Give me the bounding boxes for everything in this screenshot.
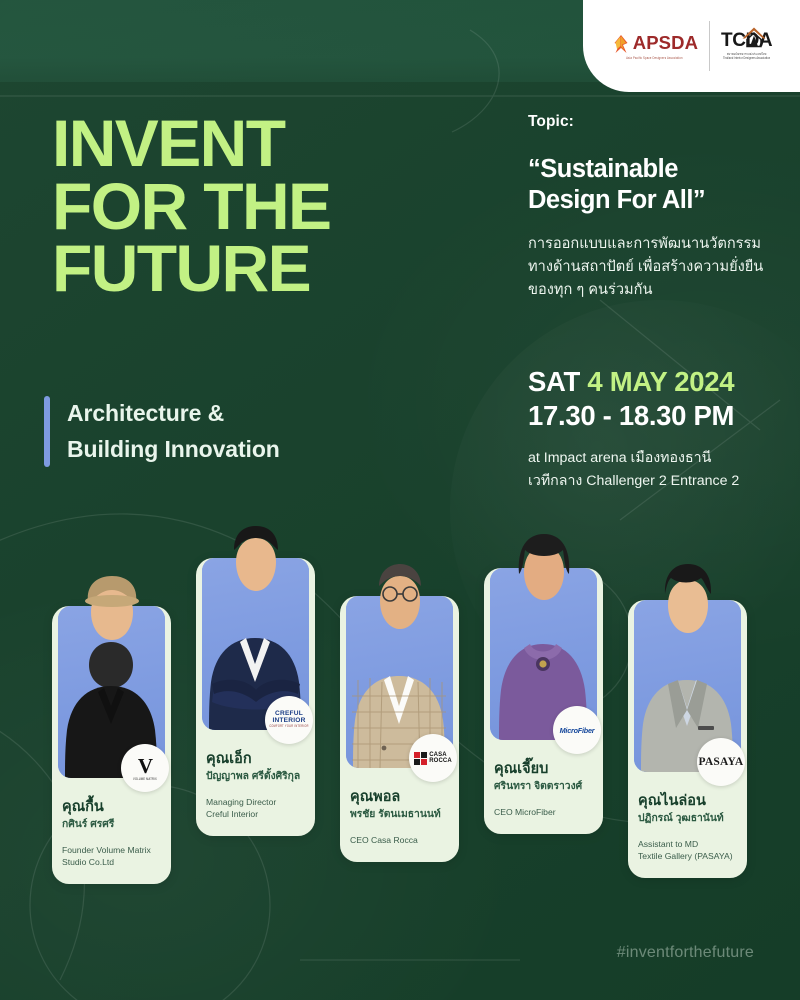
speaker-head-icon [225,518,287,592]
event-day: SAT [528,366,580,397]
casa-rocca-squares-icon [414,752,427,765]
speaker-card[interactable]: V VOLUME MATRIX คุณกื้น กศินร์ ศรศรี Fou… [52,600,171,884]
apsda-butterfly-icon [611,33,631,55]
event-poster: APSDA Asia Pacific Space Designers Assoc… [0,0,800,1000]
speaker-card[interactable]: MicroFiber คุณเจี๊ยบ ศรินทรา จิตตราวงศ์ … [484,562,603,834]
speaker-head-overflow [81,566,143,640]
headline-line-3: FUTURE [52,237,492,300]
company-logo-badge: PASAYA [697,738,745,786]
apsda-tagline: Asia Pacific Space Designers Association [626,56,683,60]
company-logo-badge: MicroFiber [553,706,601,754]
speaker-head-overflow [225,518,287,592]
subtitle-line-2: Building Innovation [67,432,280,468]
topic-block: Topic: “Sustainable Design For All” การอ… [528,113,784,302]
speaker-head-overflow [369,556,431,630]
volume-matrix-sub: VOLUME MATRIX [133,777,157,781]
casa-rocca-mark: CASA ROCCA [414,752,452,765]
casa-line-2: ROCCA [429,758,452,764]
speaker-head-icon [657,560,719,634]
speaker-photo: PASAYA [634,600,741,772]
speaker-role-line-1: Managing Director [206,796,305,808]
tcda-logo: TCDA สมาคมมัณฑนากรแห่งประเทศไทย Thailand… [721,31,772,60]
header-logo-panel: APSDA Asia Pacific Space Designers Assoc… [583,0,800,92]
microfiber-mark: MicroFiber [560,726,595,735]
apsda-logo: APSDA Asia Pacific Space Designers Assoc… [611,33,698,60]
speaker-head-icon [369,556,431,630]
speaker-photo: CASA ROCCA [346,596,453,768]
volume-matrix-mark: V [138,756,152,777]
subtitle-line-1: Architecture & [67,396,280,432]
speaker-role: Managing Director Creful Interior [206,796,305,821]
speaker-role-line-1: Founder Volume Matrix [62,844,161,856]
speaker-fullname: ปฏิกรณ์ วุฒธานันท์ [638,812,737,825]
event-venue: at Impact arena เมืองทองธานี เวทีกลาง Ch… [528,447,798,493]
footer-hashtag: #inventforthefuture [617,944,754,962]
speaker-nickname: คุณเจี๊ยบ [494,760,593,778]
schedule-block: SAT 4 MAY 2024 17.30 - 18.30 PM at Impac… [528,366,798,493]
company-logo-badge: V VOLUME MATRIX [121,744,169,792]
speaker-nickname: คุณเอ็ก [206,750,305,768]
topic-desc-line-2: ทางด้านสถาปัตย์ เพื่อสร้างความยั่งยืน [528,256,784,279]
topic-title-line-2: Design For All” [528,185,784,216]
speaker-role-line-2: Studio Co.Ltd [62,856,161,868]
apsda-wordmark: APSDA [633,34,698,53]
speaker-role-line-2: Textile Gallery (PASAYA) [638,850,737,862]
speaker-head-icon [513,528,575,602]
speaker-role: CEO MicroFiber [494,806,593,818]
topic-title-line-1: “Sustainable [528,154,784,185]
speaker-fullname: ศรินทรา จิตตราวงศ์ [494,780,593,793]
speaker-head-overflow [657,560,719,634]
topic-title: “Sustainable Design For All” [528,154,784,216]
tcda-wordmark: TCDA [721,31,772,50]
subtitle-accent-bar [44,396,50,467]
speaker-hat-icon [81,566,143,640]
speaker-role-line-2: Creful Interior [206,808,305,820]
headline-line-1: INVENT [52,112,492,175]
topic-desc-line-3: ของทุก ๆ คนร่วมกัน [528,279,784,302]
headline-line-2: FOR THE [52,175,492,238]
speaker-card[interactable]: PASAYA คุณไนล่อน ปฏิกรณ์ วุฒธานันท์ Assi… [628,594,747,878]
event-time: 17.30 - 18.30 PM [528,398,798,433]
venue-line-1: at Impact arena เมืองทองธานี [528,447,798,470]
poster-headline: INVENT FOR THE FUTURE [52,112,492,300]
speaker-photo: MicroFiber [490,568,597,740]
speaker-role-line-1: CEO MicroFiber [494,806,593,818]
company-logo-badge: CASA ROCCA [409,734,457,782]
topic-description: การออกแบบและการพัฒนานวัตกรรม ทางด้านสถาป… [528,233,784,301]
event-date-value: 4 MAY 2024 [587,366,734,397]
speaker-fullname: ปัญญาพล ศรีตั้งศิริกุล [206,770,305,783]
event-date: SAT 4 MAY 2024 [528,366,798,398]
speaker-role-line-1: Assistant to MD [638,838,737,850]
logo-divider [709,21,710,71]
speaker-fullname: พรชัย รัตนเมธานนท์ [350,808,449,821]
topic-label: Topic: [528,113,784,131]
speaker-role: Founder Volume Matrix Studio Co.Ltd [62,844,161,869]
speaker-card[interactable]: CASA ROCCA คุณพอล พรชัย รัตนเมธานนท์ CEO… [340,590,459,862]
pasaya-mark: PASAYA [699,756,744,768]
headline-subtitle: Architecture & Building Innovation [44,396,280,467]
tcda-house-icon [741,26,767,48]
speaker-card[interactable]: CREFUL INTERIOR COMFORT YOUR INTERIOR คุ… [196,552,315,836]
speaker-head-overflow [513,528,575,602]
speaker-nickname: คุณกื้น [62,798,161,816]
creful-interior-mark: CREFUL INTERIOR COMFORT YOUR INTERIOR [269,711,308,728]
venue-line-2: เวทีกลาง Challenger 2 Entrance 2 [528,470,798,493]
speaker-fullname: กศินร์ ศรศรี [62,818,161,831]
speaker-photo: V VOLUME MATRIX [58,606,165,778]
topic-desc-line-1: การออกแบบและการพัฒนานวัตกรรม [528,233,784,256]
company-logo-badge: CREFUL INTERIOR COMFORT YOUR INTERIOR [265,696,313,744]
speaker-nickname: คุณไนล่อน [638,792,737,810]
speaker-role: Assistant to MD Textile Gallery (PASAYA) [638,838,737,863]
speaker-role-line-1: CEO Casa Rocca [350,834,449,846]
creful-line-3: COMFORT YOUR INTERIOR [269,726,308,729]
speaker-photo: CREFUL INTERIOR COMFORT YOUR INTERIOR [202,558,309,730]
speaker-role: CEO Casa Rocca [350,834,449,846]
speaker-card-list: V VOLUME MATRIX คุณกื้น กศินร์ ศรศรี Fou… [0,500,800,940]
tcda-tagline-en: Thailand Interior Designers Association [723,56,770,61]
speaker-nickname: คุณพอล [350,788,449,806]
